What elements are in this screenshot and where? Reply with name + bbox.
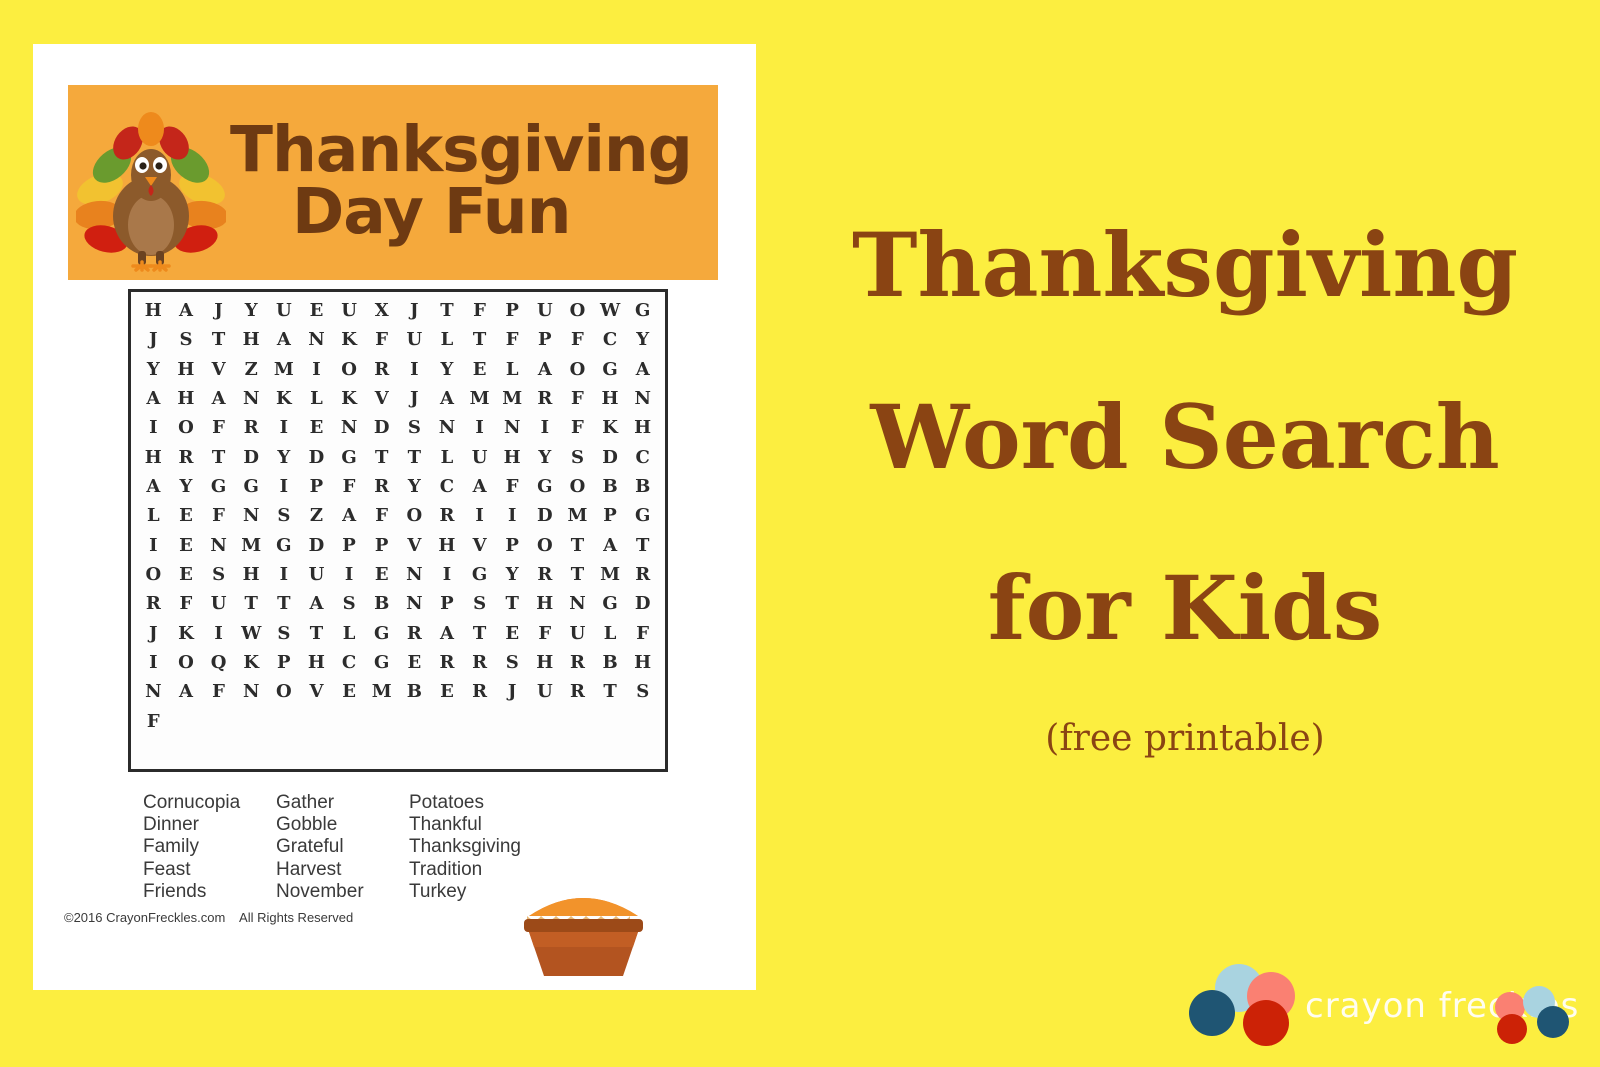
grid-cell: G <box>463 560 496 589</box>
grid-cell: T <box>463 618 496 647</box>
grid-cell: A <box>431 384 464 413</box>
grid-cell: E <box>170 501 203 530</box>
grid-cell: G <box>626 296 659 325</box>
grid-cell: R <box>626 560 659 589</box>
grid-cell: R <box>431 501 464 530</box>
grid-cell: T <box>561 560 594 589</box>
grid-cell: D <box>300 531 333 560</box>
page-title-line2: Word Search <box>770 352 1600 524</box>
grid-cell: R <box>463 677 496 706</box>
grid-cell: N <box>496 413 529 442</box>
grid-cell: P <box>496 296 529 325</box>
grid-cell: S <box>463 589 496 618</box>
grid-cell: R <box>170 443 203 472</box>
grid-cell: O <box>170 648 203 677</box>
letter-grid: HAJYUEUXJTFPUOWGJSTHANKFULTFPFCYYHVZMIOR… <box>131 292 665 769</box>
grid-cell: P <box>300 472 333 501</box>
grid-cell: H <box>137 296 170 325</box>
grid-cell: D <box>626 589 659 618</box>
grid-cell: U <box>529 677 562 706</box>
grid-cell: O <box>333 355 366 384</box>
promo-panel: Thanksgiving Word Search for Kids (free … <box>770 0 1600 1067</box>
grid-cell: I <box>496 501 529 530</box>
grid-cell: O <box>398 501 431 530</box>
grid-cell: R <box>365 472 398 501</box>
grid-cell: F <box>496 325 529 354</box>
grid-cell: P <box>268 648 301 677</box>
grid-cell: H <box>170 355 203 384</box>
grid-cell: N <box>398 589 431 618</box>
grid-cell: E <box>365 560 398 589</box>
grid-cell: S <box>333 589 366 618</box>
grid-cell: I <box>137 648 170 677</box>
grid-cell: H <box>529 648 562 677</box>
grid-cell: F <box>202 501 235 530</box>
grid-cell: S <box>268 618 301 647</box>
grid-cell: H <box>496 443 529 472</box>
page-title: Thanksgiving Word Search for Kids <box>770 180 1600 695</box>
grid-cell: E <box>463 355 496 384</box>
grid-cell: A <box>202 384 235 413</box>
grid-cell: C <box>333 648 366 677</box>
grid-cell: M <box>268 355 301 384</box>
grid-cell: U <box>268 296 301 325</box>
word-list-column-2: GatherGobbleGratefulHarvestNovember <box>276 792 409 903</box>
grid-cell: Y <box>235 296 268 325</box>
grid-cell: I <box>463 413 496 442</box>
grid-cell: F <box>561 325 594 354</box>
grid-cell: E <box>333 677 366 706</box>
word-list-item: Harvest <box>276 859 409 881</box>
grid-cell: R <box>235 413 268 442</box>
grid-cell: S <box>626 677 659 706</box>
grid-cell: L <box>431 443 464 472</box>
grid-cell: T <box>235 589 268 618</box>
grid-cell: N <box>300 325 333 354</box>
grid-cell: G <box>202 472 235 501</box>
grid-cell: F <box>463 296 496 325</box>
grid-cell: J <box>137 325 170 354</box>
grid-cell: I <box>333 560 366 589</box>
grid-cell: M <box>594 560 627 589</box>
grid-cell: D <box>365 413 398 442</box>
grid-cell: R <box>463 648 496 677</box>
grid-cell: T <box>202 443 235 472</box>
grid-cell: E <box>170 531 203 560</box>
grid-cell: M <box>463 384 496 413</box>
grid-cell: T <box>398 443 431 472</box>
grid-cell: T <box>496 589 529 618</box>
grid-cell: M <box>365 677 398 706</box>
grid-cell: O <box>170 413 203 442</box>
banner-title: Thanksgiving Day Fun <box>226 119 718 242</box>
grid-cell: W <box>235 618 268 647</box>
grid-cell: E <box>431 677 464 706</box>
grid-cell: G <box>594 589 627 618</box>
grid-cell: O <box>561 355 594 384</box>
grid-cell: D <box>529 501 562 530</box>
grid-cell: M <box>561 501 594 530</box>
logo-dot-red <box>1243 1000 1289 1046</box>
grid-cell: Z <box>300 501 333 530</box>
grid-cell: B <box>594 648 627 677</box>
grid-cell: G <box>626 501 659 530</box>
page-subtitle: (free printable) <box>770 718 1600 759</box>
grid-cell: A <box>170 677 203 706</box>
grid-cell: S <box>268 501 301 530</box>
grid-cell: T <box>202 325 235 354</box>
crayon-freckles-logo[interactable]: crayon freckles <box>1175 948 1600 1053</box>
grid-cell: A <box>170 296 203 325</box>
grid-cell: F <box>561 413 594 442</box>
grid-cell: D <box>300 443 333 472</box>
grid-cell: P <box>431 589 464 618</box>
grid-cell: H <box>300 648 333 677</box>
grid-cell: L <box>496 355 529 384</box>
grid-cell: K <box>594 413 627 442</box>
grid-cell: S <box>561 443 594 472</box>
grid-cell: Y <box>431 355 464 384</box>
grid-cell: I <box>463 501 496 530</box>
page-title-line1: Thanksgiving <box>770 180 1600 352</box>
grid-cell: E <box>398 648 431 677</box>
grid-cell: P <box>529 325 562 354</box>
grid-cell: U <box>333 296 366 325</box>
word-search-grid: HAJYUEUXJTFPUOWGJSTHANKFULTFPFCYYHVZMIOR… <box>128 289 668 772</box>
grid-cell: A <box>137 384 170 413</box>
grid-cell: D <box>235 443 268 472</box>
grid-cell: T <box>365 443 398 472</box>
grid-cell: I <box>268 413 301 442</box>
grid-cell: T <box>268 589 301 618</box>
grid-cell: I <box>398 355 431 384</box>
grid-cell: I <box>268 472 301 501</box>
grid-cell: S <box>170 325 203 354</box>
grid-cell: V <box>463 531 496 560</box>
word-list-item: Potatoes <box>409 792 579 814</box>
grid-cell: I <box>137 531 170 560</box>
grid-cell: V <box>398 531 431 560</box>
grid-cell: R <box>398 618 431 647</box>
grid-cell: A <box>626 355 659 384</box>
grid-cell: G <box>365 618 398 647</box>
grid-cell: K <box>333 325 366 354</box>
word-list-item: Feast <box>143 859 276 881</box>
grid-cell: J <box>398 384 431 413</box>
grid-cell: R <box>365 355 398 384</box>
grid-cell: L <box>300 384 333 413</box>
grid-cell: U <box>300 560 333 589</box>
grid-cell: A <box>594 531 627 560</box>
grid-cell: F <box>333 472 366 501</box>
grid-cell: A <box>137 472 170 501</box>
grid-cell: R <box>529 384 562 413</box>
grid-cell: C <box>626 443 659 472</box>
grid-cell: B <box>626 472 659 501</box>
grid-cell: E <box>300 413 333 442</box>
grid-cell: F <box>137 706 170 735</box>
grid-cell: H <box>626 413 659 442</box>
grid-cell: Y <box>268 443 301 472</box>
grid-cell: I <box>529 413 562 442</box>
turkey-illustration <box>76 93 226 273</box>
word-list-item: Cornucopia <box>143 792 276 814</box>
grid-cell: N <box>235 501 268 530</box>
grid-cell: N <box>137 677 170 706</box>
grid-cell: D <box>594 443 627 472</box>
grid-cell: N <box>561 589 594 618</box>
grid-cell: A <box>300 589 333 618</box>
grid-cell: F <box>561 384 594 413</box>
grid-cell: J <box>496 677 529 706</box>
grid-cell: S <box>202 560 235 589</box>
word-list-item: Dinner <box>143 814 276 836</box>
grid-cell: Q <box>202 648 235 677</box>
grid-cell: L <box>137 501 170 530</box>
grid-cell: L <box>333 618 366 647</box>
grid-cell: F <box>365 325 398 354</box>
word-list-item: Gather <box>276 792 409 814</box>
grid-cell: I <box>137 413 170 442</box>
grid-cell: L <box>594 618 627 647</box>
worksheet-banner: Thanksgiving Day Fun <box>68 85 718 280</box>
grid-cell: H <box>529 589 562 618</box>
grid-cell: E <box>496 618 529 647</box>
grid-cell: G <box>365 648 398 677</box>
grid-cell: E <box>300 296 333 325</box>
grid-cell: Y <box>137 355 170 384</box>
grid-cell: Y <box>529 443 562 472</box>
grid-cell: P <box>365 531 398 560</box>
grid-cell: I <box>300 355 333 384</box>
grid-cell: T <box>431 296 464 325</box>
copyright-notice: ©2016 CrayonFreckles.com All Rights Rese… <box>64 910 353 925</box>
printable-worksheet-page: Thanksgiving Day Fun HAJYUEUXJTFPUOWGJST… <box>33 44 756 990</box>
grid-cell: M <box>496 384 529 413</box>
grid-cell: U <box>561 618 594 647</box>
grid-cell: V <box>202 355 235 384</box>
word-list-item: Thankful <box>409 814 579 836</box>
grid-cell: A <box>463 472 496 501</box>
grid-cell: K <box>268 384 301 413</box>
grid-cell: O <box>529 531 562 560</box>
grid-cell: N <box>235 384 268 413</box>
grid-cell: H <box>626 648 659 677</box>
grid-cell: B <box>594 472 627 501</box>
word-list-column-1: CornucopiaDinnerFamilyFeastFriends <box>143 792 276 903</box>
grid-cell: N <box>202 531 235 560</box>
grid-cell: E <box>170 560 203 589</box>
grid-cell: F <box>202 677 235 706</box>
grid-cell: A <box>333 501 366 530</box>
word-list-item: Gobble <box>276 814 409 836</box>
grid-cell: Y <box>170 472 203 501</box>
grid-cell: H <box>431 531 464 560</box>
word-list-item: Friends <box>143 881 276 903</box>
grid-cell: A <box>268 325 301 354</box>
grid-cell: H <box>594 384 627 413</box>
grid-cell: A <box>529 355 562 384</box>
grid-cell: N <box>431 413 464 442</box>
logo-dot-navy <box>1189 990 1235 1036</box>
grid-cell: P <box>333 531 366 560</box>
grid-cell: R <box>561 648 594 677</box>
grid-cell: O <box>268 677 301 706</box>
grid-cell: P <box>496 531 529 560</box>
grid-cell: N <box>626 384 659 413</box>
grid-cell: C <box>594 325 627 354</box>
grid-cell: N <box>398 560 431 589</box>
grid-cell: O <box>137 560 170 589</box>
grid-cell: R <box>561 677 594 706</box>
grid-cell: K <box>170 618 203 647</box>
word-list-item: November <box>276 881 409 903</box>
grid-cell: N <box>333 413 366 442</box>
grid-cell: X <box>365 296 398 325</box>
grid-cell: I <box>202 618 235 647</box>
grid-cell: F <box>496 472 529 501</box>
grid-cell: C <box>431 472 464 501</box>
grid-cell: K <box>235 648 268 677</box>
grid-cell: G <box>235 472 268 501</box>
grid-cell: H <box>170 384 203 413</box>
grid-cell: R <box>137 589 170 618</box>
grid-cell: G <box>333 443 366 472</box>
grid-cell: J <box>202 296 235 325</box>
grid-cell: K <box>333 384 366 413</box>
grid-cell: B <box>398 677 431 706</box>
grid-cell: Y <box>496 560 529 589</box>
grid-cell: O <box>561 472 594 501</box>
grid-cell: U <box>463 443 496 472</box>
grid-cell: Y <box>626 325 659 354</box>
grid-cell: I <box>268 560 301 589</box>
grid-cell: A <box>431 618 464 647</box>
grid-cell: F <box>170 589 203 618</box>
word-list-item: Family <box>143 836 276 858</box>
grid-cell: Y <box>398 472 431 501</box>
grid-cell: B <box>365 589 398 618</box>
grid-cell: P <box>594 501 627 530</box>
word-list-item: Grateful <box>276 836 409 858</box>
grid-cell: N <box>235 677 268 706</box>
page-title-line3: for Kids <box>770 523 1600 695</box>
grid-cell: L <box>431 325 464 354</box>
grid-cell: H <box>137 443 170 472</box>
grid-cell: U <box>202 589 235 618</box>
grid-cell: Z <box>235 355 268 384</box>
grid-cell: S <box>496 648 529 677</box>
grid-cell: G <box>594 355 627 384</box>
grid-cell: T <box>300 618 333 647</box>
grid-cell: M <box>235 531 268 560</box>
grid-cell: I <box>431 560 464 589</box>
grid-cell: T <box>626 531 659 560</box>
grid-cell: G <box>268 531 301 560</box>
logo-dot-red-right <box>1497 1014 1527 1044</box>
grid-cell: R <box>431 648 464 677</box>
grid-cell: F <box>365 501 398 530</box>
grid-cell: S <box>398 413 431 442</box>
grid-cell: T <box>463 325 496 354</box>
grid-cell: T <box>561 531 594 560</box>
grid-cell: U <box>529 296 562 325</box>
grid-cell: J <box>137 618 170 647</box>
grid-cell: V <box>365 384 398 413</box>
grid-cell: W <box>594 296 627 325</box>
grid-cell: R <box>529 560 562 589</box>
logo-dot-navy-right <box>1537 1006 1569 1038</box>
grid-cell: H <box>235 560 268 589</box>
grid-cell: U <box>398 325 431 354</box>
grid-cell: J <box>398 296 431 325</box>
word-list-item: Thanksgiving <box>409 836 579 858</box>
grid-cell: O <box>561 296 594 325</box>
grid-cell: G <box>529 472 562 501</box>
grid-cell: F <box>626 618 659 647</box>
grid-cell: F <box>529 618 562 647</box>
grid-cell: H <box>235 325 268 354</box>
grid-cell: F <box>202 413 235 442</box>
pumpkin-pie-illustration <box>511 872 656 982</box>
banner-title-line2: Day Fun <box>230 181 718 243</box>
grid-cell: V <box>300 677 333 706</box>
grid-cell: T <box>594 677 627 706</box>
